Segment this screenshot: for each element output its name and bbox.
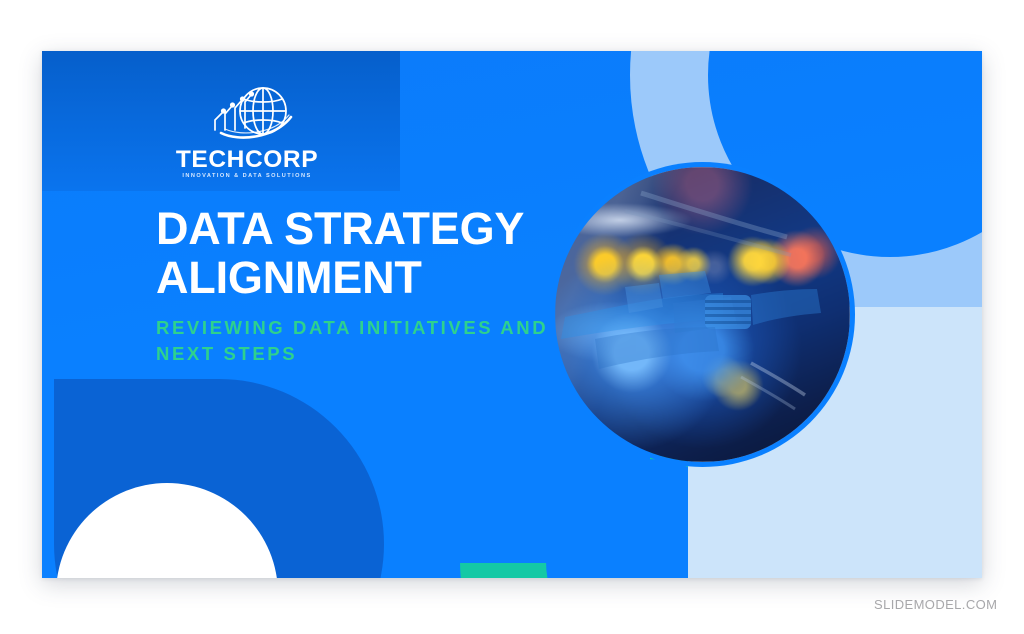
screenshot-canvas: TECHCORP INNOVATION & DATA SOLUTIONS DAT… bbox=[0, 0, 1024, 634]
slide-title: DATA STRATEGY ALIGNMENT bbox=[156, 205, 576, 302]
globe-circuit-icon bbox=[205, 84, 297, 146]
hero-photo bbox=[555, 167, 850, 462]
presentation-slide: TECHCORP INNOVATION & DATA SOLUTIONS DAT… bbox=[42, 51, 982, 578]
mask-left bbox=[42, 379, 54, 578]
slide-subtitle: REVIEWING DATA INITIATIVES AND NEXT STEP… bbox=[156, 315, 576, 366]
brand-logo: TECHCORP INNOVATION & DATA SOLUTIONS bbox=[163, 84, 331, 199]
logo-tagline: INNOVATION & DATA SOLUTIONS bbox=[163, 174, 331, 180]
logo-company-name: TECHCORP bbox=[163, 148, 331, 173]
hero-photo-cable-overlay bbox=[555, 167, 850, 462]
watermark-label: SLIDEMODEL.COM bbox=[874, 597, 997, 612]
